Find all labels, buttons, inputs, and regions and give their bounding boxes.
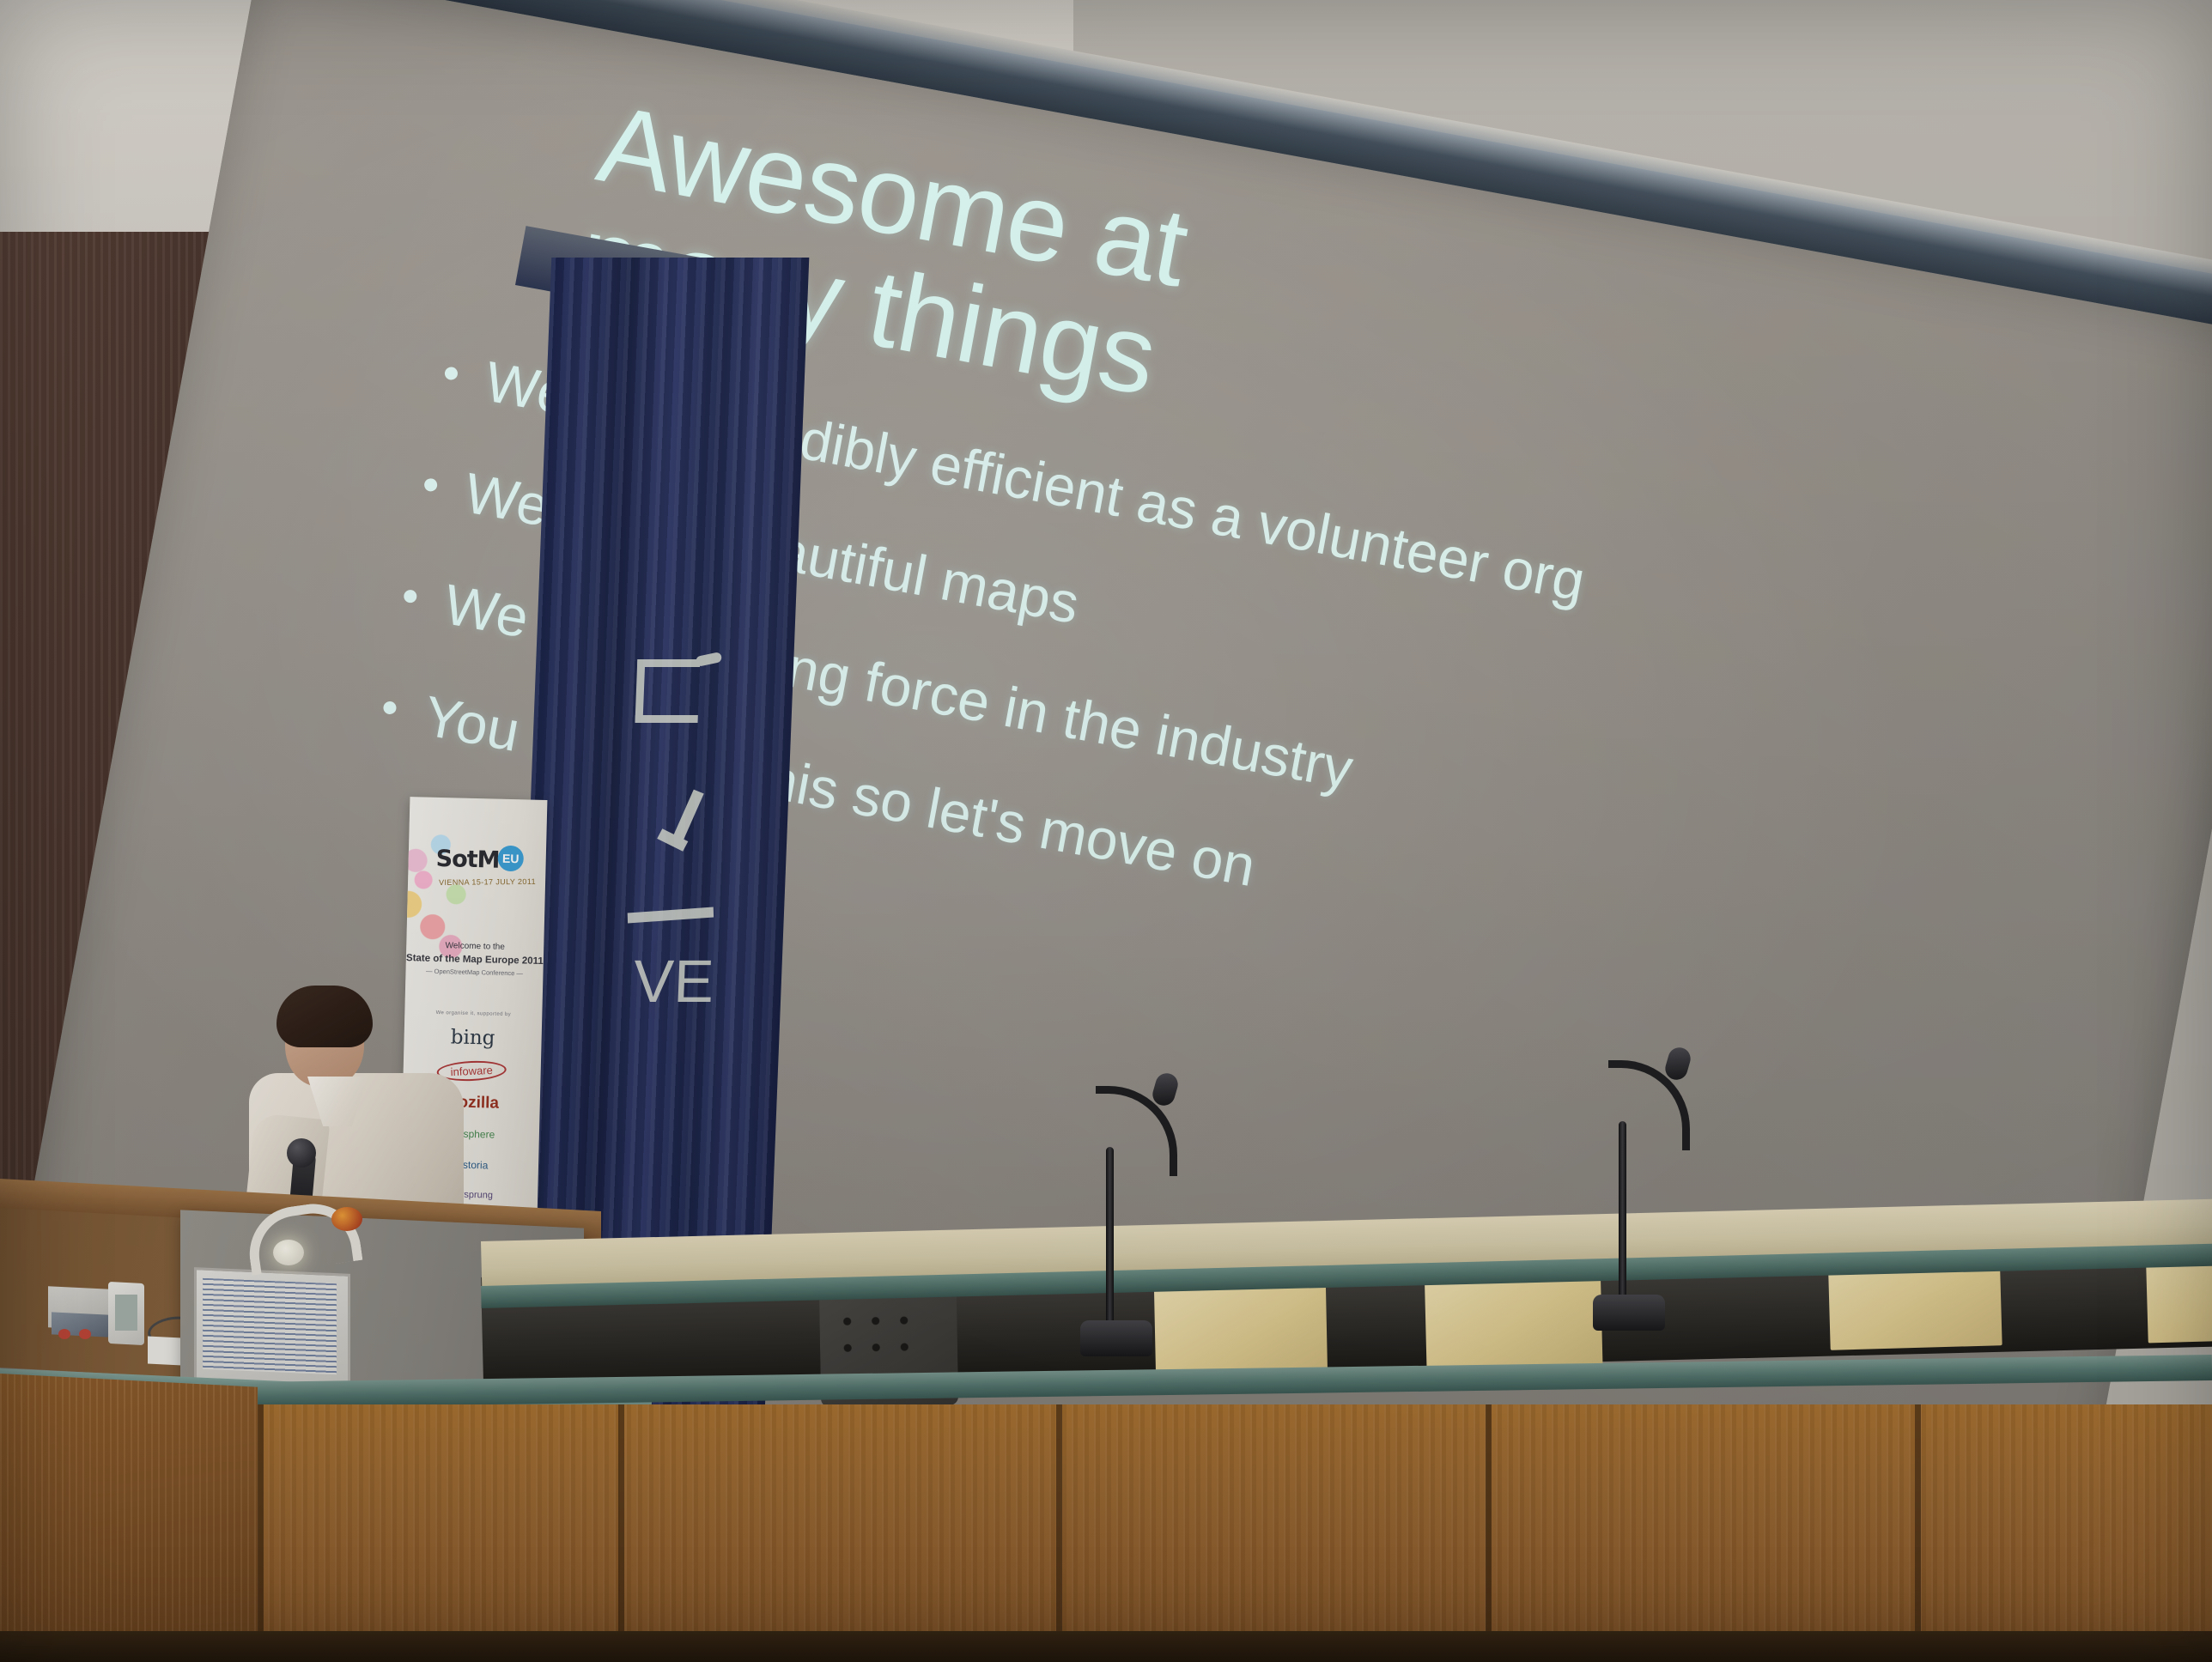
desk-remote-screen [115,1295,137,1331]
bullet-dot-icon [444,366,459,380]
handheld-microphone-capsule-icon [287,1138,316,1168]
spill-glyph-slash [673,790,704,840]
microphone-capsule-icon [1150,1071,1180,1108]
microphone-base [1593,1295,1665,1331]
microphone-capsule-icon [1662,1045,1692,1083]
microphone-base [1080,1320,1152,1356]
desk-device-button-red-left[interactable] [58,1329,70,1339]
banner-color-splash-graphic [398,819,497,959]
wood-panel-seam-5 [1915,1404,1921,1662]
left-wood-paneling [0,1374,258,1662]
wood-panel-seam-1 [258,1404,264,1662]
microphone-stem [1619,1121,1626,1301]
bullet-dot-icon [423,477,438,492]
speaker-hair [276,986,373,1047]
floor-strip [0,1631,2212,1662]
spill-glyph-ve: VE [632,944,715,1020]
banner-date-line: VIENNA 15-17 JULY 2011 [439,877,536,887]
bullet-dot-icon [403,589,417,604]
sotm-eu-badge: EU [497,846,524,872]
spill-glyph-bracket [635,659,700,723]
conference-photo-scene: Awesome at many things We are incredibly… [0,0,2212,1662]
spill-glyph-dash [628,907,714,924]
wood-panel-seam-4 [1486,1404,1492,1662]
lectern-lamp-bulb-icon [273,1240,304,1265]
wood-panel-seam-3 [1056,1404,1062,1662]
banner-welcome-block: Welcome to the State of the Map Europe 2… [405,938,544,979]
bullet-dot-icon [382,700,397,714]
microphone-stem [1106,1147,1114,1327]
spill-glyph-tick [696,652,723,667]
gooseneck-microphone-left [1080,1065,1192,1356]
lectern-plate-text-lines [203,1278,337,1375]
front-wood-paneling [0,1404,2212,1662]
wood-panel-seam-2 [618,1404,624,1662]
gooseneck-microphone-right [1593,1039,1705,1331]
sotm-logo-text: SotM [435,846,500,874]
desk-device-button-red-right[interactable] [79,1329,91,1339]
lectern-indicator-light [331,1207,362,1231]
